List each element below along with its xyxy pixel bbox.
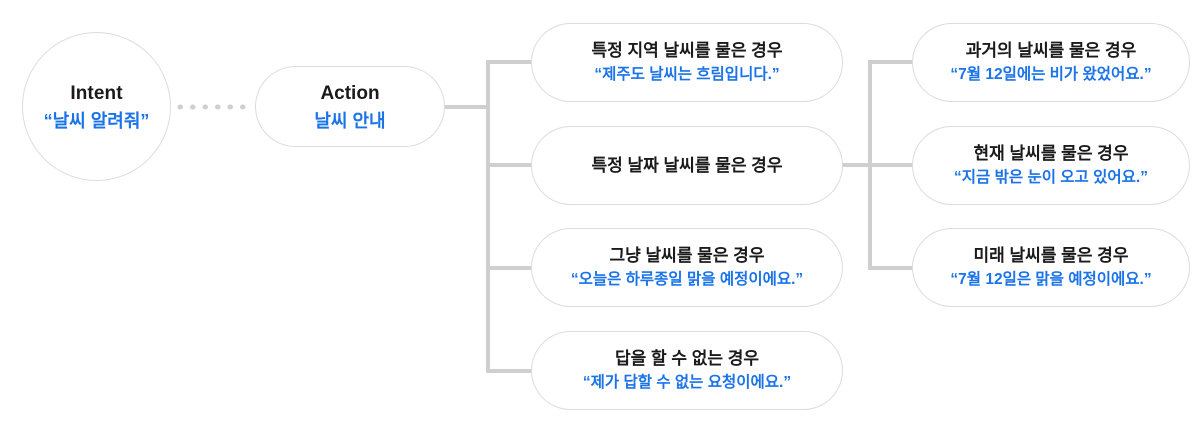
diagram-canvas: Intent “날씨 알려줘” Action 날씨 안내 특정 지역 날씨를 물…	[0, 0, 1200, 435]
node-subcase-past-weather[interactable]: 과거의 날씨를 물은 경우 “7월 12일에는 비가 왔었어요.”	[912, 23, 1190, 102]
node-case-specific-region-subtitle: “제주도 날씨는 흐림입니다.”	[594, 67, 779, 83]
node-case-cannot-answer-title: 답을 할 수 없는 경우	[615, 350, 759, 367]
node-case-specific-region[interactable]: 특정 지역 날씨를 물은 경우 “제주도 날씨는 흐림입니다.”	[531, 23, 843, 102]
node-intent-subtitle: “날씨 알려줘”	[44, 112, 150, 130]
node-subcase-current-weather[interactable]: 현재 날씨를 물은 경우 “지금 밖은 눈이 오고 있어요.”	[912, 126, 1190, 205]
node-subcase-future-weather-title: 미래 날씨를 물은 경우	[974, 247, 1129, 264]
node-subcase-future-weather[interactable]: 미래 날씨를 물은 경우 “7월 12일은 맑을 예정이에요.”	[912, 228, 1190, 307]
node-case-specific-region-title: 특정 지역 날씨를 물은 경우	[592, 42, 783, 59]
node-intent[interactable]: Intent “날씨 알려줘”	[22, 32, 171, 181]
node-case-specific-date-title: 특정 날짜 날씨를 물은 경우	[592, 157, 783, 174]
node-subcase-past-weather-subtitle: “7월 12일에는 비가 왔었어요.”	[950, 67, 1151, 83]
node-case-general-weather-subtitle: “오늘은 하루종일 맑을 예정이에요.”	[571, 272, 803, 288]
node-case-cannot-answer-subtitle: “제가 답할 수 없는 요청이에요.”	[583, 375, 791, 391]
node-case-cannot-answer[interactable]: 답을 할 수 없는 경우 “제가 답할 수 없는 요청이에요.”	[531, 331, 843, 410]
node-case-general-weather-title: 그냥 날씨를 물은 경우	[610, 247, 765, 264]
node-intent-title: Intent	[70, 84, 122, 103]
node-action-subtitle: 날씨 안내	[314, 112, 385, 130]
node-action-title: Action	[320, 84, 379, 103]
node-case-specific-date[interactable]: 특정 날짜 날씨를 물은 경우	[531, 126, 843, 205]
node-subcase-current-weather-subtitle: “지금 밖은 눈이 오고 있어요.”	[954, 170, 1148, 186]
node-subcase-current-weather-title: 현재 날씨를 물은 경우	[974, 145, 1129, 162]
node-case-general-weather[interactable]: 그냥 날씨를 물은 경우 “오늘은 하루종일 맑을 예정이에요.”	[531, 228, 843, 307]
node-action[interactable]: Action 날씨 안내	[255, 66, 445, 147]
node-subcase-past-weather-title: 과거의 날씨를 물은 경우	[966, 42, 1137, 59]
node-subcase-future-weather-subtitle: “7월 12일은 맑을 예정이에요.”	[950, 272, 1151, 288]
